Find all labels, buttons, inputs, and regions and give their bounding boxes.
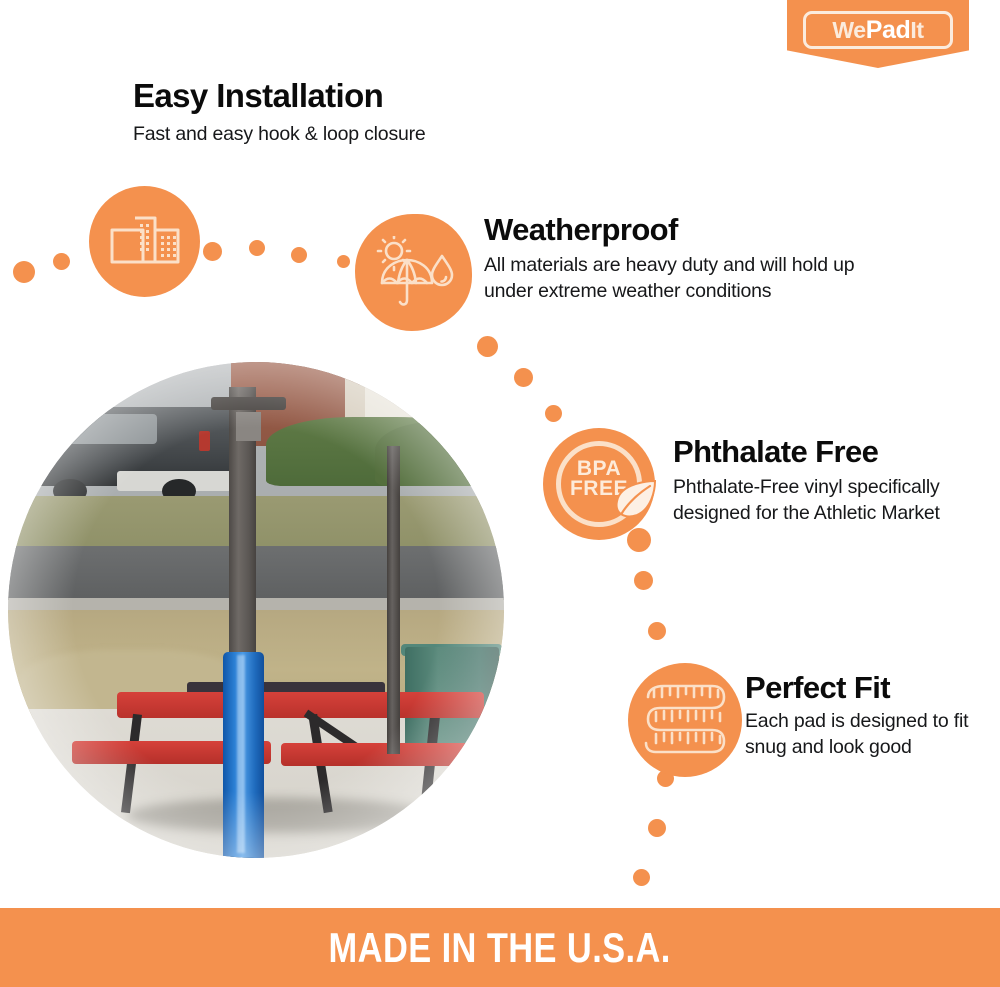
trail-dot: [648, 622, 666, 640]
feature-title: Phthalate Free: [673, 436, 963, 468]
feature-block-easy-installation: Easy Installation Fast and easy hook & l…: [133, 79, 593, 148]
feature-icon-perfect-fit[interactable]: [628, 663, 742, 777]
trail-dot: [634, 571, 653, 590]
trail-dot: [514, 368, 533, 387]
logo-text-we: We: [832, 17, 865, 43]
trail-dot: [337, 255, 350, 268]
hook-and-loop-strap-icon: [109, 212, 181, 272]
made-in-usa-banner: MADE IN THE U.S.A.: [0, 908, 1000, 987]
feature-icon-weatherproof[interactable]: [355, 214, 472, 331]
feature-description: Fast and easy hook & loop closure: [133, 122, 593, 148]
infographic-canvas: WePadIt: [0, 0, 1000, 987]
trail-dot: [249, 240, 265, 256]
trail-dot: [203, 242, 222, 261]
logo-wordmark: WePadIt: [832, 18, 923, 43]
trail-dot: [633, 869, 650, 886]
umbrella-sun-raindrop-icon: [374, 236, 454, 310]
feature-title: Weatherproof: [484, 214, 904, 246]
feature-block-weatherproof: Weatherproof All materials are heavy dut…: [484, 214, 904, 305]
measuring-tape-icon: [642, 681, 728, 759]
made-in-usa-text: MADE IN THE U.S.A.: [329, 924, 671, 972]
brand-logo[interactable]: WePadIt: [787, 0, 969, 68]
trail-dot: [648, 819, 666, 837]
feature-icon-phthalate-free[interactable]: BPA FREE: [543, 428, 655, 540]
feature-title: Easy Installation: [133, 79, 593, 113]
photo-edge-fade: [8, 362, 504, 858]
trail-dot: [291, 247, 307, 263]
logo-outline-box: WePadIt: [803, 11, 953, 49]
leaf-icon: [611, 477, 659, 521]
trail-dot: [13, 261, 35, 283]
feature-block-perfect-fit: Perfect Fit Each pad is designed to fit …: [745, 672, 985, 761]
logo-text-pad: Pad: [866, 16, 911, 44]
trail-dot: [53, 253, 70, 270]
feature-icon-easy-installation[interactable]: [89, 186, 200, 297]
trail-dot: [477, 336, 498, 357]
feature-description: Phthalate-Free vinyl specifically design…: [673, 475, 963, 527]
feature-description: All materials are heavy duty and will ho…: [484, 253, 904, 305]
logo-text-it: It: [910, 17, 923, 43]
feature-block-phthalate-free: Phthalate Free Phthalate-Free vinyl spec…: [673, 436, 963, 527]
bpa-accent-dot: [627, 528, 651, 552]
feature-description: Each pad is designed to fit snug and loo…: [745, 709, 985, 761]
product-photo: [8, 362, 504, 858]
feature-title: Perfect Fit: [745, 672, 985, 704]
trail-dot: [545, 405, 562, 422]
